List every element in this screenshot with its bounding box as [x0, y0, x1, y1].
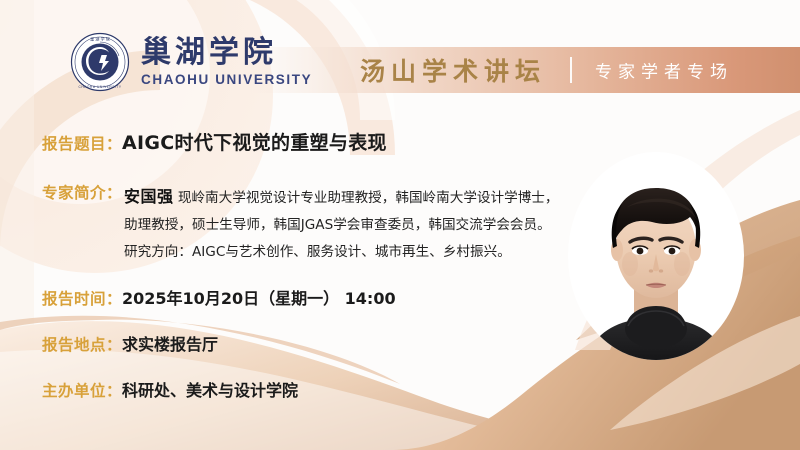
field-row-organizer: 主办单位： 科研处、美术与设计学院 [42, 377, 572, 401]
bio-line-1: 安国强 现岭南大学视觉设计专业助理教授，韩国岭南大学设计学博士， [124, 181, 558, 212]
organizer-value: 科研处、美术与设计学院 [122, 377, 298, 401]
bio-label: 专家简介： [42, 181, 122, 203]
poster-header: 汤山学术讲坛 专家学者专场 巢 湖 学 院 CHAOHU UNIVERSITY … [0, 0, 800, 110]
university-logo-text: 巢湖学院 CHAOHU UNIVERSITY [141, 38, 312, 87]
field-row-place: 报告地点： 求实楼报告厅 [42, 331, 572, 355]
place-label: 报告地点： [42, 333, 122, 355]
banner-subtitle: 专家学者专场 [595, 58, 733, 83]
chaohu-university-seal-icon: 巢 湖 学 院 CHAOHU UNIVERSITY [70, 32, 130, 92]
banner-inner: 汤山学术讲坛 专家学者专场 [250, 47, 800, 93]
university-name-en: CHAOHU UNIVERSITY [141, 73, 312, 87]
field-row-title: 报告题目： AIGC时代下视觉的重塑与表现 [42, 128, 572, 155]
time-value: 2025年10月20日（星期一） 14:00 [122, 285, 396, 309]
bio-text-1: 现岭南大学视觉设计专业助理教授，韩国岭南大学设计学博士， [174, 190, 559, 206]
bio-line-2: 助理教授，硕士生导师，韩国JGAS学会审查委员，韩国交流学会会员。 [124, 212, 558, 239]
academic-lecture-poster: 汤山学术讲坛 专家学者专场 巢 湖 学 院 CHAOHU UNIVERSITY … [0, 0, 800, 450]
time-label: 报告时间： [42, 287, 122, 309]
banner-title: 汤山学术讲坛 [360, 52, 546, 88]
vertical-divider-icon [570, 57, 572, 83]
speaker-portrait [566, 152, 746, 370]
university-logo: 巢 湖 学 院 CHAOHU UNIVERSITY 巢湖学院 CHAOHU UN… [70, 32, 312, 92]
organizer-label: 主办单位： [42, 379, 122, 401]
svg-text:巢 湖 学 院: 巢 湖 学 院 [90, 36, 110, 42]
bio-line-3: 研究方向：AIGC与艺术创作、服务设计、城市再生、乡村振兴。 [124, 239, 558, 266]
svg-text:CHAOHU UNIVERSITY: CHAOHU UNIVERSITY [79, 85, 122, 89]
field-row-time: 报告时间： 2025年10月20日（星期一） 14:00 [42, 285, 572, 309]
speaker-name: 安国强 [124, 187, 174, 206]
lecture-banner: 汤山学术讲坛 专家学者专场 [250, 47, 800, 93]
speaker-photo-icon [566, 152, 746, 370]
place-value: 求实楼报告厅 [122, 331, 218, 355]
poster-content: 报告题目： AIGC时代下视觉的重塑与表现 专家简介： 安国强 现岭南大学视觉设… [42, 128, 572, 423]
university-name-cn: 巢湖学院 [141, 38, 312, 68]
field-row-bio: 专家简介： 安国强 现岭南大学视觉设计专业助理教授，韩国岭南大学设计学博士， 助… [42, 181, 572, 265]
title-value: AIGC时代下视觉的重塑与表现 [122, 128, 387, 155]
title-label: 报告题目： [42, 132, 122, 154]
bio-body: 安国强 现岭南大学视觉设计专业助理教授，韩国岭南大学设计学博士， 助理教授，硕士… [124, 181, 558, 265]
